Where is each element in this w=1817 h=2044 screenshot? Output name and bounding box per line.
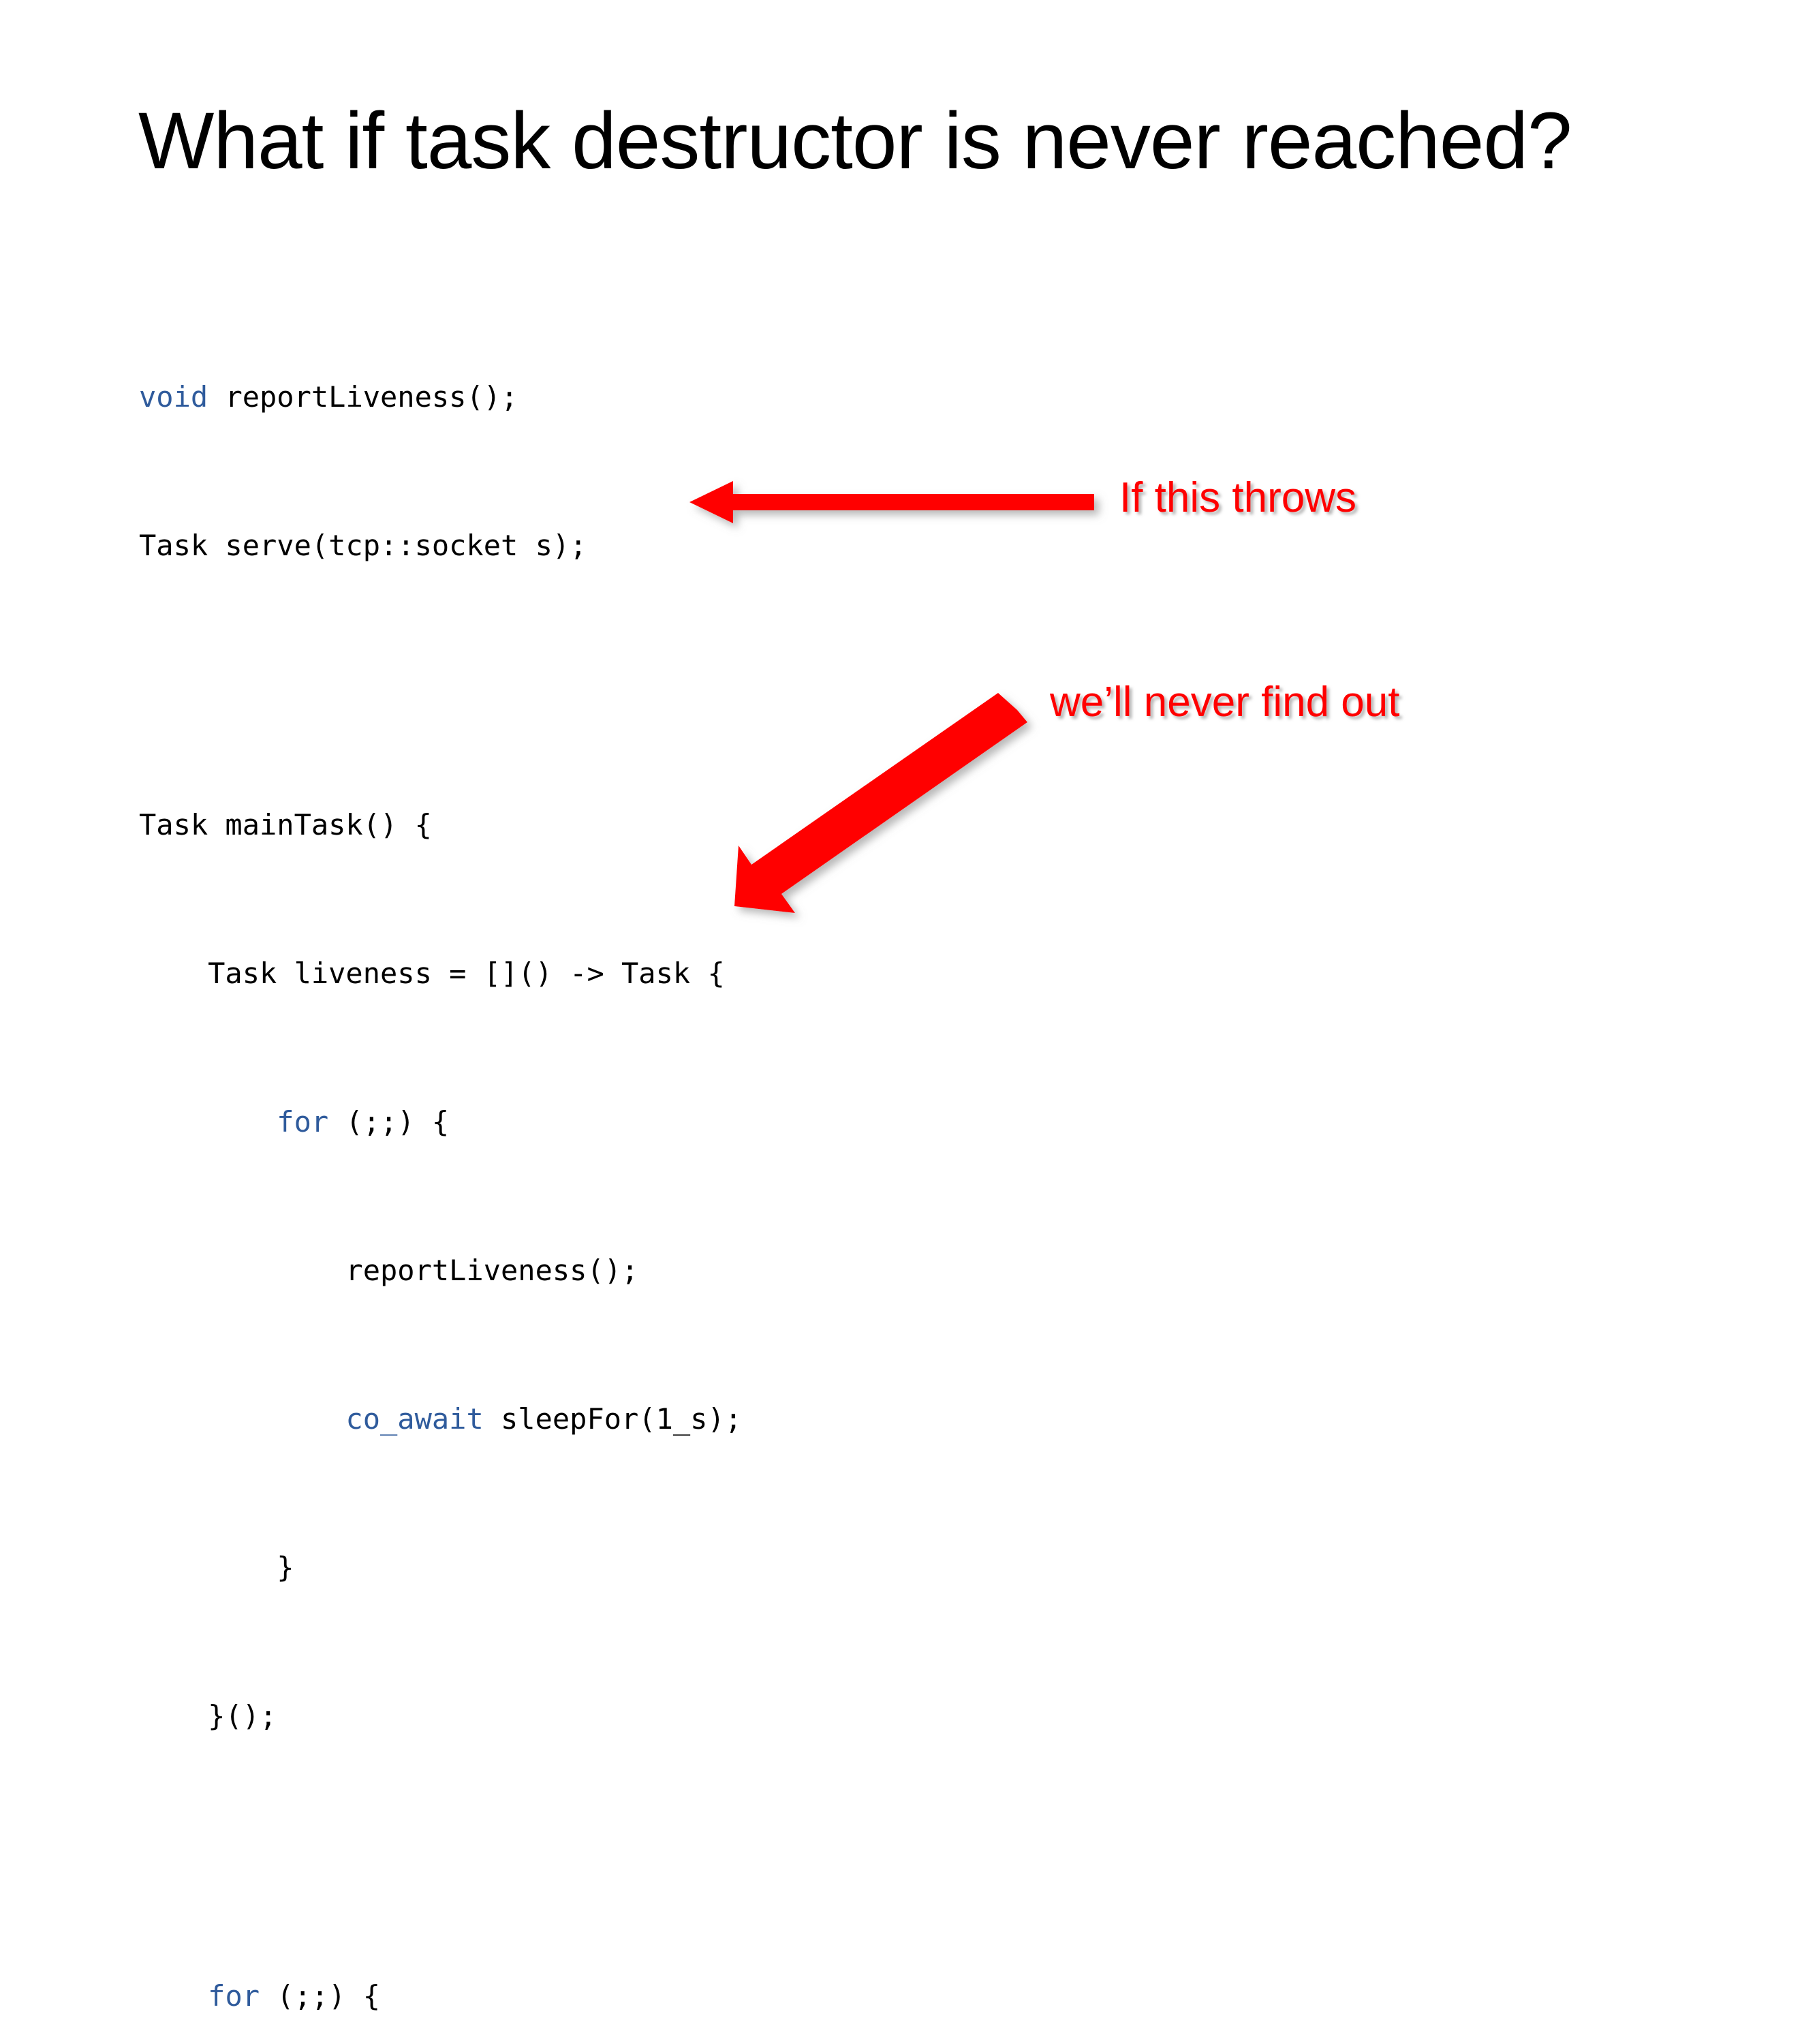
code-line: Task serve(tcp::socket s); xyxy=(139,527,828,565)
code-line-blank xyxy=(139,1846,828,1866)
code-line: }(); xyxy=(139,1698,828,1735)
code-line: reportLiveness(); xyxy=(139,1252,828,1290)
code-text: } xyxy=(139,1551,294,1584)
code-text: Task serve(tcp::socket s); xyxy=(139,529,587,562)
page-title: What if task destructor is never reached… xyxy=(138,95,1572,188)
code-text: }(); xyxy=(139,1699,277,1733)
annotation-if-this-throws: If this throws xyxy=(1119,477,1356,519)
code-text: reportLiveness(); xyxy=(208,380,518,414)
code-text: reportLiveness(); xyxy=(139,1254,638,1287)
code-line-blank xyxy=(139,676,828,696)
code-block: void reportLiveness(); Task serve(tcp::s… xyxy=(139,267,828,2044)
code-line: void reportLiveness(); xyxy=(139,379,828,416)
code-text: (;;) { xyxy=(260,1979,380,2013)
code-text: sleepFor(1_s); xyxy=(484,1402,742,1436)
code-text: Task mainTask() { xyxy=(139,808,432,841)
annotation-well-never-find-out: we’ll never find out xyxy=(1050,681,1400,724)
code-line: Task liveness = []() -> Task { xyxy=(139,955,828,993)
code-line: for (;;) { xyxy=(139,1978,828,2015)
keyword-co-await: co_await xyxy=(345,1402,483,1436)
code-line: co_await sleepFor(1_s); xyxy=(139,1401,828,1438)
slide-canvas: What if task destructor is never reached… xyxy=(0,0,1817,1022)
code-line: for (;;) { xyxy=(139,1104,828,1141)
code-text: (;;) { xyxy=(328,1105,449,1139)
keyword-for: for xyxy=(277,1105,328,1139)
keyword-void: void xyxy=(139,380,208,414)
code-line: Task mainTask() { xyxy=(139,807,828,844)
code-indent xyxy=(139,1402,345,1436)
code-text: Task liveness = []() -> Task { xyxy=(139,957,725,990)
code-line: } xyxy=(139,1549,828,1587)
code-indent xyxy=(139,1979,208,2013)
keyword-for: for xyxy=(208,1979,260,2013)
code-indent xyxy=(139,1105,277,1139)
